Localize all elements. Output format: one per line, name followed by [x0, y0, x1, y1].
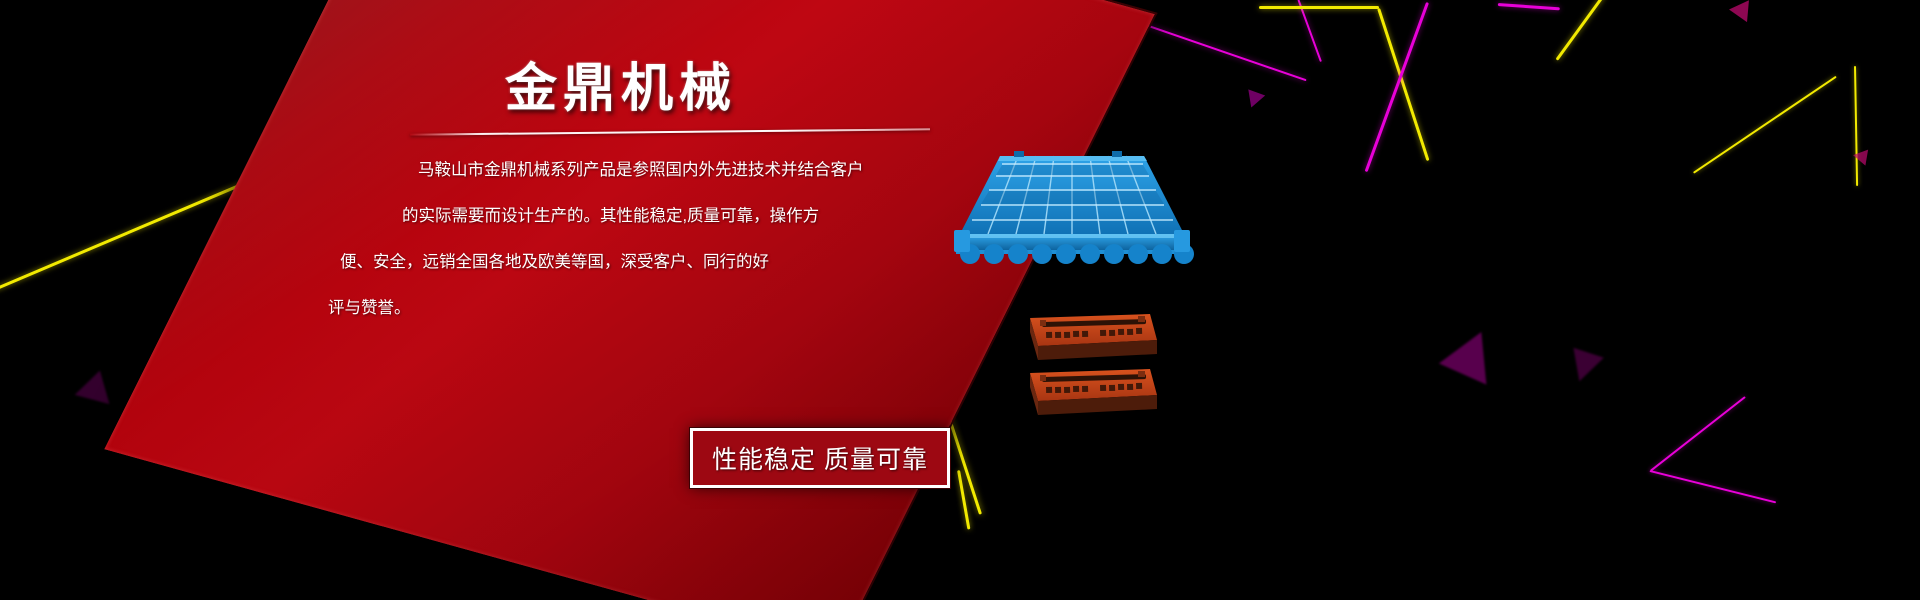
product-blue-grate-plate: [944, 138, 1194, 270]
yellow-line-right-top: [1259, 6, 1379, 9]
blue-grate-icon: [944, 138, 1194, 270]
orange-block-icon-lower: [1026, 365, 1160, 417]
title-divider: [410, 128, 930, 135]
magenta-line-right-a: [1365, 2, 1429, 172]
slogan-box: 性能稳定 质量可靠: [690, 428, 950, 488]
hero-banner: 金鼎机械 马鞍山市金鼎机械系列产品是参照国内外先进技术并结合客户 的实际需要而设…: [0, 0, 1920, 600]
magenta-triangle-5: [1564, 348, 1604, 386]
slogan-text: 性能稳定 质量可靠: [712, 440, 928, 476]
magenta-line-top-c: [1297, 0, 1321, 62]
page-title: 金鼎机械: [505, 60, 940, 117]
product-orange-block-upper: [1026, 310, 1160, 367]
magenta-triangle-3: [1853, 150, 1873, 169]
panel-content: 金鼎机械 马鞍山市金鼎机械系列产品是参照国内外先进技术并结合客户 的实际需要而设…: [380, 60, 940, 331]
magenta-triangle-1: [1243, 89, 1265, 110]
magenta-line-bottomright-a: [1650, 396, 1746, 471]
yellow-line-right-down: [1377, 8, 1429, 161]
yellow-line-farright-a: [1693, 76, 1837, 174]
magenta-triangle-4: [1439, 321, 1505, 384]
intro-line-3: 便、安全，远销全国各地及欧美等国，深受客户、同行的好: [340, 239, 940, 285]
magenta-line-right-b: [1498, 3, 1560, 10]
yellow-line-farright-top: [1556, 0, 1605, 61]
product-orange-block-lower: [1026, 365, 1160, 422]
orange-block-icon-upper: [1026, 310, 1160, 362]
magenta-triangle-2: [1729, 0, 1757, 27]
intro-line-4: 评与赞誉。: [328, 285, 940, 331]
magenta-line-bottomright-b: [1650, 470, 1777, 503]
intro-line-1: 马鞍山市金鼎机械系列产品是参照国内外先进技术并结合客户: [418, 147, 940, 193]
yellow-line-bottom-center: [957, 470, 970, 530]
intro-line-2: 的实际需要而设计生产的。其性能稳定,质量可靠，操作方: [402, 193, 940, 239]
intro-paragraph: 马鞍山市金鼎机械系列产品是参照国内外先进技术并结合客户 的实际需要而设计生产的。…: [380, 147, 940, 331]
magenta-triangle-6: [75, 366, 118, 404]
